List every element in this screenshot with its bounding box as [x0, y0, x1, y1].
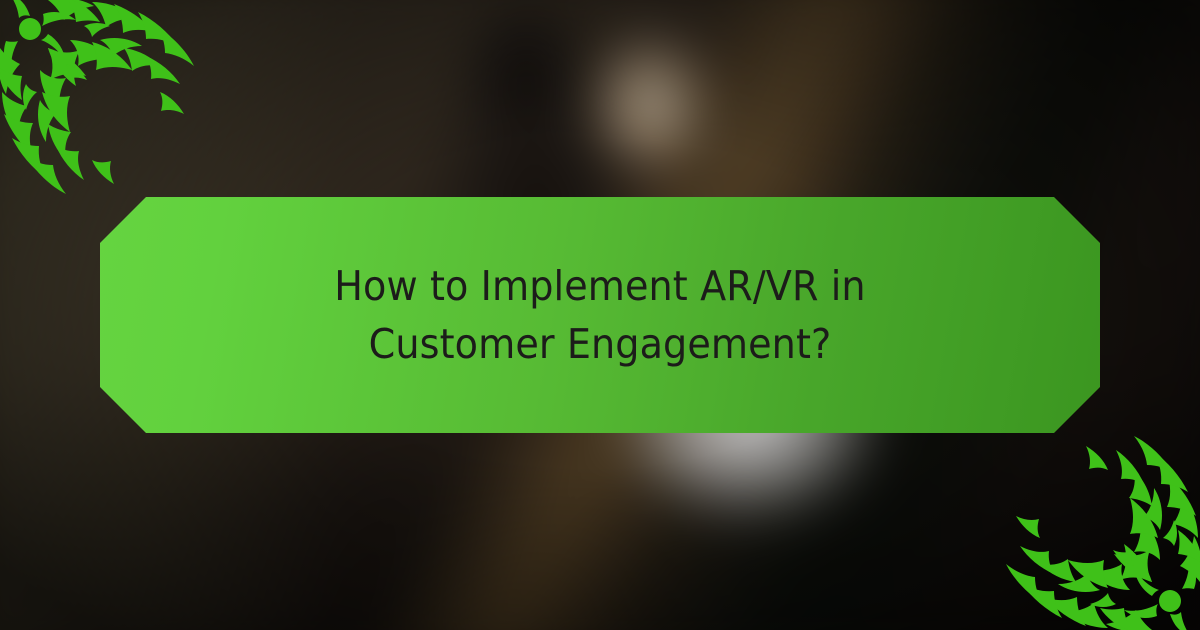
banner-title: How to Implement AR/VR in Customer Engag…	[275, 257, 926, 373]
title-banner: How to Implement AR/VR in Customer Engag…	[100, 197, 1100, 433]
social-share-card: How to Implement AR/VR in Customer Engag…	[0, 0, 1200, 630]
